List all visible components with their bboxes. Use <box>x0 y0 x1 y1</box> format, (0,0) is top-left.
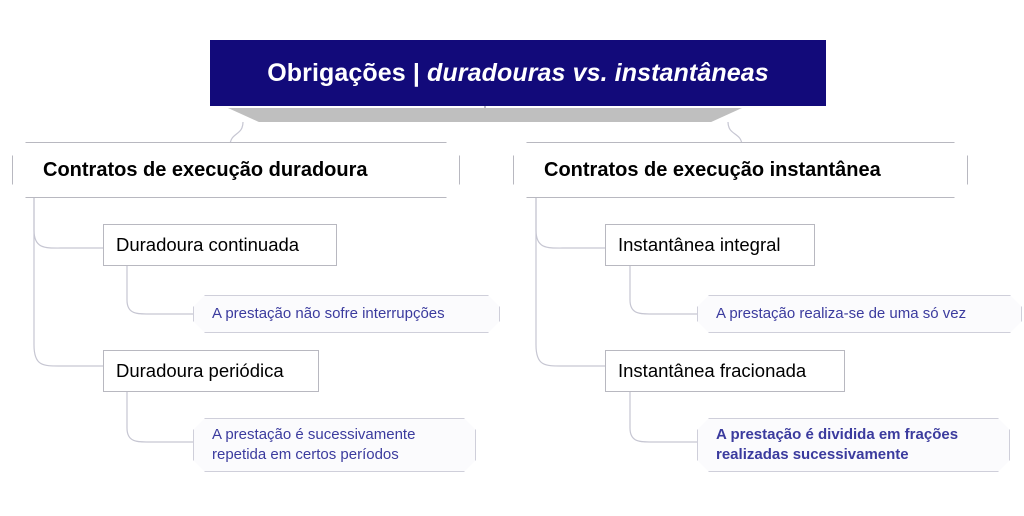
subnode-duradoura-continuada-label: Duradoura continuada <box>116 234 299 256</box>
detail-instantanea-fracionada-line1: A prestação é dividida em frações <box>716 426 958 443</box>
detail-duradoura-periodica-line2: repetida em certos períodos <box>212 446 399 463</box>
subnode-duradoura-periodica-label: Duradoura periódica <box>116 360 284 382</box>
diagram-title-banner: Obrigações | duradouras vs. instantâneas <box>210 40 826 106</box>
subnode-duradoura-continuada[interactable]: Duradoura continuada <box>103 224 337 266</box>
subnode-instantanea-integral[interactable]: Instantânea integral <box>605 224 815 266</box>
diagram-canvas: Obrigações | duradouras vs. instantâneas… <box>0 0 1024 516</box>
branch-node-duradoura-label: Contratos de execução duradoura <box>43 159 368 182</box>
detail-instantanea-integral[interactable]: A prestação realiza-se de uma só vez <box>697 295 1022 333</box>
page-title: Obrigações | duradouras vs. instantâneas <box>267 59 768 88</box>
detail-duradoura-continuada[interactable]: A prestação não sofre interrupções <box>193 295 500 333</box>
subnode-duradoura-periodica[interactable]: Duradoura periódica <box>103 350 319 392</box>
detail-duradoura-continuada-text: A prestação não sofre interrupções <box>212 304 445 324</box>
detail-duradoura-periodica-text: A prestação é sucessivamente repetida em… <box>212 425 415 465</box>
detail-duradoura-periodica[interactable]: A prestação é sucessivamente repetida em… <box>193 418 476 472</box>
detail-instantanea-fracionada[interactable]: A prestação é dividida em frações realiz… <box>697 418 1010 472</box>
detail-instantanea-fracionada-text: A prestação é dividida em frações realiz… <box>716 425 958 465</box>
header-shadow-trapezoid <box>228 108 742 122</box>
branch-node-duradoura[interactable]: Contratos de execução duradoura <box>12 142 460 198</box>
detail-instantanea-integral-text: A prestação realiza-se de uma só vez <box>716 304 966 324</box>
branch-node-instantanea-label: Contratos de execução instantânea <box>544 159 881 182</box>
detail-duradoura-periodica-line1: A prestação é sucessivamente <box>212 426 415 443</box>
page-title-italic: duradouras vs. instantâneas <box>427 59 769 87</box>
detail-instantanea-fracionada-line2: realizadas sucessivamente <box>716 446 909 463</box>
page-title-plain: Obrigações | <box>267 59 427 87</box>
subnode-instantanea-fracionada-label: Instantânea fracionada <box>618 360 806 382</box>
branch-node-instantanea[interactable]: Contratos de execução instantânea <box>513 142 968 198</box>
subnode-instantanea-integral-label: Instantânea integral <box>618 234 781 256</box>
subnode-instantanea-fracionada[interactable]: Instantânea fracionada <box>605 350 845 392</box>
